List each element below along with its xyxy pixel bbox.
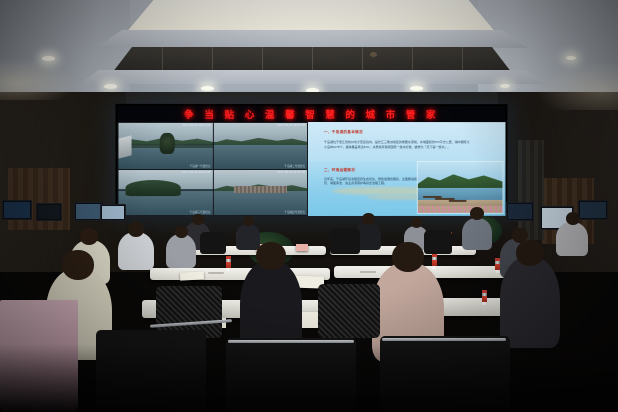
ceiling-band [96,30,528,48]
attendee-mid-left-2-head [128,222,144,237]
monitor-7-screen [580,202,606,218]
ceiling-vent-band [112,47,512,73]
video-wall-body: 2017-06-21 09:12:36 千岛湖一号监控点 2017-06-21 … [117,122,505,216]
monitor-1-screen [4,202,30,218]
cam4-timestamp: 2017-06-21 09:12:36 [277,171,305,174]
chair-foreground-2-rail[interactable] [228,340,354,343]
presentation-slide[interactable]: 一、千岛湖的基本情况 千岛湖位于浙江省杭州市淳安县境内，是长江三角洲地区的重要水… [308,122,505,216]
attendee-mid-left-head [80,228,98,245]
cctv-camera-grid[interactable]: 2017-06-21 09:12:36 千岛湖一号监控点 2017-06-21 … [117,122,308,216]
attendee-back-6 [556,222,588,256]
monitor-2-screen [38,205,60,219]
attendee-back-6-head [566,212,580,225]
desk-slot-1 [208,272,224,274]
downlight-2 [104,84,117,89]
vent-slat [462,47,463,73]
ceiling-light-cove [125,0,497,34]
attendee-back-2 [236,224,260,250]
attendee-front-right-head [392,242,424,272]
foreground-shadow [0,344,618,412]
vent-slat [162,47,163,73]
vent-slat [262,47,263,73]
monitor-4-screen [102,206,124,219]
chair-back-3[interactable] [424,230,452,254]
cam1-tree [160,133,175,154]
attendee-front-far-right-head [516,240,544,266]
bottle-cap-7 [482,290,487,293]
cctv-feed-4[interactable]: 2017-06-21 09:12:36 千岛湖四号监控点 [213,170,307,216]
cam2-label: 千岛湖二号监控点 [284,164,305,168]
attendee-back-2-head [243,216,254,226]
cam3-timestamp: 2017-06-21 09:12:36 [182,171,210,174]
cam1-label: 千岛湖一号监控点 [190,164,211,168]
chair-back-2[interactable] [330,228,360,254]
ceiling [0,0,618,96]
downlight-5 [410,86,423,91]
attendee-back-5 [462,218,492,250]
attendee-back-3-head [362,213,375,225]
water-bottle-3 [226,256,231,271]
cam1-railing [118,135,131,158]
workstation-monitor-4[interactable] [100,204,126,221]
right-wall-light-wash [538,62,618,110]
cctv-feed-3[interactable]: 2017-06-21 09:12:36 千岛湖三号监控点 [118,170,212,216]
cam4-township [234,186,286,193]
water-bottle-7 [482,290,487,305]
cam4-label: 千岛湖四号监控点 [284,210,305,214]
cctv-feed-2[interactable]: 2017-06-21 09:12:36 千岛湖二号监控点 [213,123,307,169]
chair-front-2[interactable] [318,284,380,338]
vent-slat [212,47,213,73]
downlight-3 [201,86,214,91]
workstation-monitor-1[interactable] [2,200,32,220]
led-banner: 争 当 贴 心 温 馨 智 慧 的 城 市 管 家 [117,106,505,122]
left-wall-light-wash [0,58,74,100]
water-bottle-4 [432,254,437,269]
document-sheet-1 [180,271,204,280]
cctv-feed-1[interactable]: 2017-06-21 09:12:36 千岛湖一号监控点 [118,123,212,169]
led-banner-text: 争 当 贴 心 温 馨 智 慧 的 城 市 管 家 [184,107,439,121]
attendee-front-far-right [500,256,560,348]
name-card-2 [296,244,308,251]
slide-body-2: 近年来，千岛湖环境治理坚持生态优先、绿色发展的理念，全面推进截污纳管、湖面保洁、… [324,176,427,185]
photo-boat-3 [448,200,467,202]
sprinkler-icon [370,52,377,57]
cam1-timestamp: 2017-06-21 09:12:36 [182,124,210,127]
attendee-front-center-head [256,242,286,270]
photo-flowers [418,206,503,213]
slide-landscape-photo [417,161,504,214]
attendee-mid-left-3 [166,234,196,268]
attendee-mid-left-3-head [175,226,188,238]
monitor-5-screen [508,204,532,219]
vent-slat [412,47,413,73]
slide-body-1: 千岛湖位于浙江省杭州市淳安县境内，是长江三角洲地区的重要水源地，水域面积约573… [324,140,470,149]
bottle-label-7 [482,296,487,302]
bottle-cap-4 [432,254,437,257]
attendee-back-4-head [411,218,422,228]
workstation-monitor-7[interactable] [578,200,608,220]
attendee-front-left-head [62,250,94,280]
attendee-back-5-head [470,207,484,220]
downlight-7 [566,56,576,60]
cam2-timestamp: 2017-06-21 09:12:36 [277,124,305,127]
monitor-3-screen [76,204,102,219]
attendee-back-1-head [192,214,204,225]
workstation-monitor-2[interactable] [36,203,62,221]
conference-room-photo: 争 当 贴 心 温 馨 智 慧 的 城 市 管 家 2017-06-21 09:… [0,0,618,412]
led-video-wall[interactable]: 争 当 贴 心 温 馨 智 慧 的 城 市 管 家 2017-06-21 09:… [115,104,507,214]
chair-back-1[interactable] [200,232,226,254]
cam3-island [126,180,180,196]
slide-heading-2: 二、环境治理情况 [324,168,355,173]
bottle-cap-3 [226,256,231,259]
downlight-6 [500,84,510,88]
vent-slat [362,47,363,73]
attendee-mid-left-2 [118,232,154,270]
desk-slot-3 [360,271,376,273]
bottle-label-4 [432,260,437,266]
vent-slat [312,47,313,73]
slide-heading-1: 一、千岛湖的基本情况 [324,130,363,135]
bottle-label-3 [226,262,231,268]
workstation-monitor-5[interactable] [506,202,534,221]
ceiling-lower-band [80,70,544,84]
chair-foreground-3-rail[interactable] [382,338,506,341]
